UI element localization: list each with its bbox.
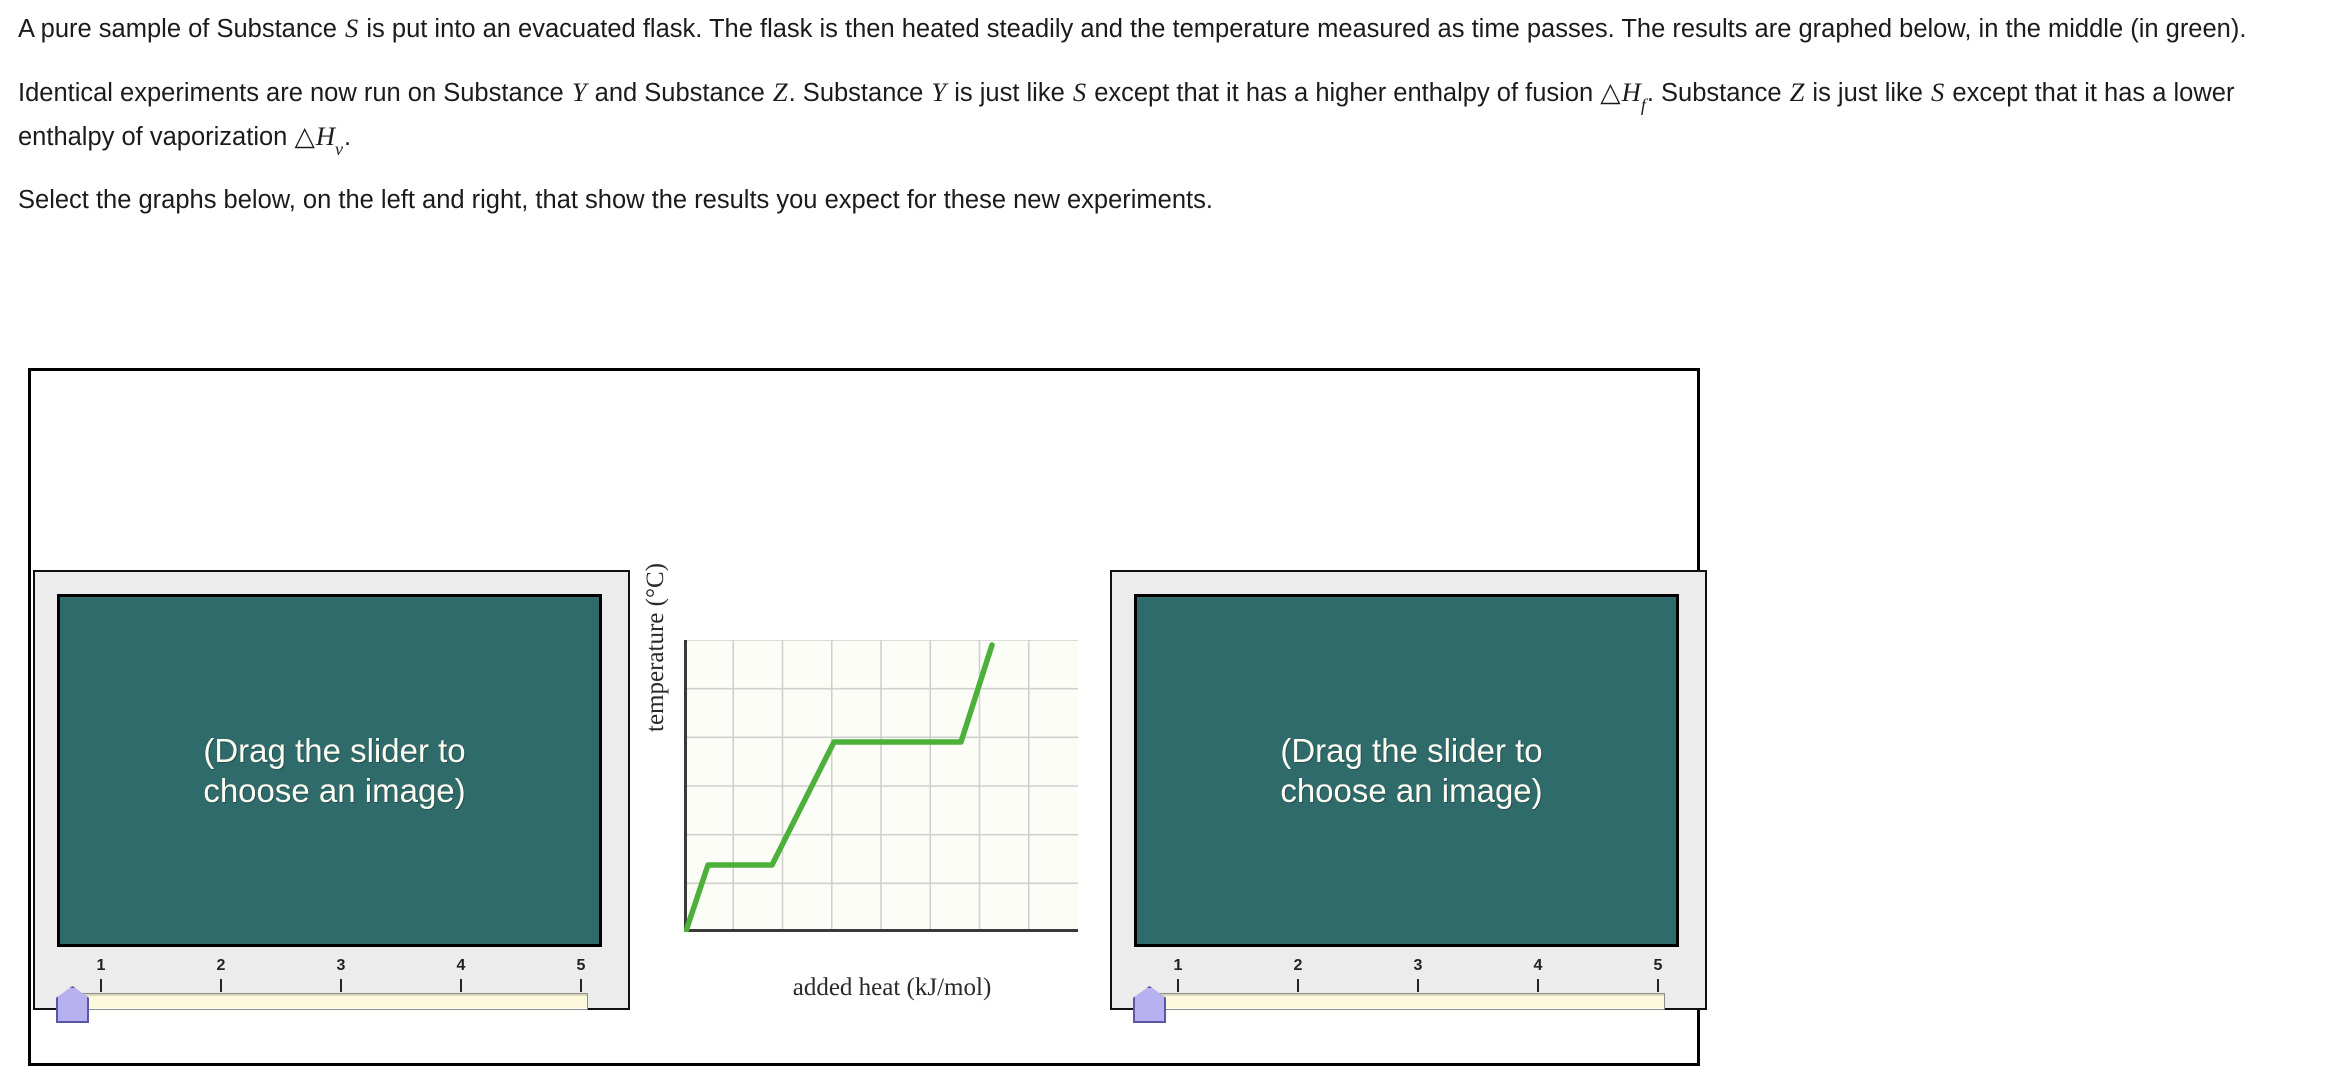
thumbnail-preview-left[interactable]: (Drag the slider to choose an image) <box>57 594 602 947</box>
prompt-text: is just like <box>947 79 1072 107</box>
prompt-text: . <box>344 123 351 151</box>
thumbnail-placeholder-text-left: (Drag the slider to choose an image) <box>165 731 505 810</box>
reference-graph-substance-s: temperature (°C) added heat (kJ/mol) <box>640 600 1095 1060</box>
subscript-f: f <box>1641 95 1646 115</box>
graph-y-axis-label: temperature (°C) <box>642 563 670 732</box>
slider-ticks-left: 1 2 3 4 5 <box>53 957 608 991</box>
slider-right[interactable]: 1 2 3 4 5 <box>1130 957 1685 1009</box>
slider-tick-label-5: 5 <box>577 957 586 975</box>
slider-track-right[interactable] <box>1157 993 1665 1010</box>
prompt-text: A pure sample of Substance <box>18 15 344 43</box>
slider-tick-label-2: 2 <box>217 957 226 975</box>
slider-tick-label-1: 1 <box>1174 957 1183 975</box>
graph-plot-area <box>684 640 1078 932</box>
slider-tick-label-4: 4 <box>457 957 466 975</box>
prompt-text: Identical experiments are now run on Sub… <box>18 79 571 107</box>
slider-tick-label-2: 2 <box>1294 957 1303 975</box>
substance-y-symbol: Y <box>571 77 588 107</box>
enthalpy-h-symbol: H <box>315 121 336 151</box>
slider-tick-mark-1 <box>1177 979 1179 992</box>
prompt-text: and Substance <box>588 79 772 107</box>
slider-handle-left[interactable] <box>56 986 89 1023</box>
slider-tick-mark-4 <box>1537 979 1539 992</box>
prompt-text: . Substance <box>1647 79 1789 107</box>
prompt-paragraph-3: Select the graphs below, on the left and… <box>18 181 2318 221</box>
enthalpy-h-symbol: H <box>1621 77 1642 107</box>
slider-ticks-right: 1 2 3 4 5 <box>1130 957 1685 991</box>
slider-tick-label-3: 3 <box>1414 957 1423 975</box>
subscript-v: v <box>335 139 343 159</box>
question-prompt: A pure sample of Substance S is put into… <box>18 8 2318 221</box>
slider-left[interactable]: 1 2 3 4 5 <box>53 957 608 1009</box>
slider-tick-mark-5 <box>1657 979 1659 992</box>
substance-s-symbol: S <box>344 13 359 43</box>
slider-tick-mark-1 <box>100 979 102 992</box>
slider-tick-label-4: 4 <box>1534 957 1543 975</box>
graph-x-axis-label: added heat (kJ/mol) <box>692 974 1092 1002</box>
slider-tick-label-3: 3 <box>337 957 346 975</box>
substance-z-symbol: Z <box>772 77 789 107</box>
prompt-text: is put into an evacuated flask. The flas… <box>359 15 2246 43</box>
substance-z-symbol: Z <box>1789 77 1806 107</box>
image-chooser-right[interactable]: (Drag the slider to choose an image) 1 2… <box>1110 570 1707 1010</box>
slider-tick-label-1: 1 <box>97 957 106 975</box>
thumbnail-preview-right[interactable]: (Drag the slider to choose an image) <box>1134 594 1679 947</box>
slider-tick-mark-4 <box>460 979 462 992</box>
slider-tick-mark-3 <box>340 979 342 992</box>
slider-handle-right[interactable] <box>1133 986 1166 1023</box>
image-chooser-left[interactable]: (Drag the slider to choose an image) 1 2… <box>33 570 630 1010</box>
slider-tick-label-5: 5 <box>1654 957 1663 975</box>
slider-tick-mark-2 <box>220 979 222 992</box>
substance-s-symbol: S <box>1072 77 1087 107</box>
delta-symbol: △ <box>294 121 314 151</box>
prompt-paragraph-2: Identical experiments are now run on Sub… <box>18 72 2318 160</box>
slider-track-left[interactable] <box>80 993 588 1010</box>
prompt-paragraph-1: A pure sample of Substance S is put into… <box>18 8 2318 50</box>
slider-tick-mark-5 <box>580 979 582 992</box>
slider-tick-mark-2 <box>1297 979 1299 992</box>
prompt-text: except that it has a higher enthalpy of … <box>1087 79 1600 107</box>
substance-y-symbol: Y <box>930 77 947 107</box>
prompt-text: . Substance <box>789 79 931 107</box>
substance-s-symbol: S <box>1930 77 1945 107</box>
thumbnail-placeholder-text-right: (Drag the slider to choose an image) <box>1242 731 1582 810</box>
slider-tick-mark-3 <box>1417 979 1419 992</box>
prompt-text: is just like <box>1805 79 1930 107</box>
delta-symbol: △ <box>1600 77 1620 107</box>
